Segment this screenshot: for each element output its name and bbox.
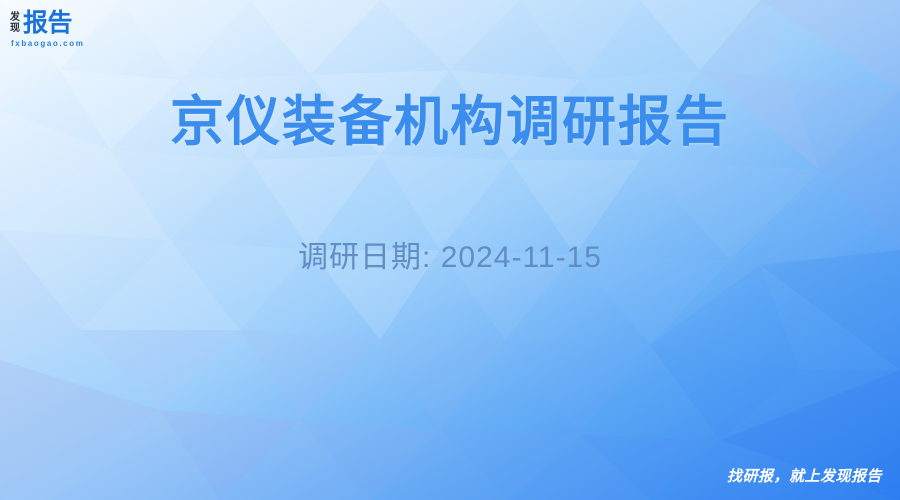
page-title: 京仪装备机构调研报告 xyxy=(0,92,900,152)
title-block: 京仪装备机构调研报告 xyxy=(0,92,900,152)
subtitle-block: 调研日期: 2024-11-15 xyxy=(0,232,900,276)
footer-tagline: 找研报，就上发现报告 xyxy=(727,465,882,486)
logo-mark-char-top: 发 xyxy=(10,13,20,23)
logo-row: 发 现 报告 xyxy=(10,8,72,38)
logo-url: fxbaogao.com xyxy=(11,39,84,48)
report-cover: 发 现 报告 fxbaogao.com 京仪装备机构调研报告 调研日期: 202… xyxy=(0,0,900,500)
brand-logo[interactable]: 发 现 报告 fxbaogao.com xyxy=(10,8,84,48)
logo-mark-char-bottom: 现 xyxy=(10,24,20,34)
logo-mark-fa-xian: 发 现 xyxy=(10,12,20,33)
logo-wordmark: 报告 xyxy=(23,11,72,36)
survey-date: 调研日期: 2024-11-15 xyxy=(0,232,900,276)
